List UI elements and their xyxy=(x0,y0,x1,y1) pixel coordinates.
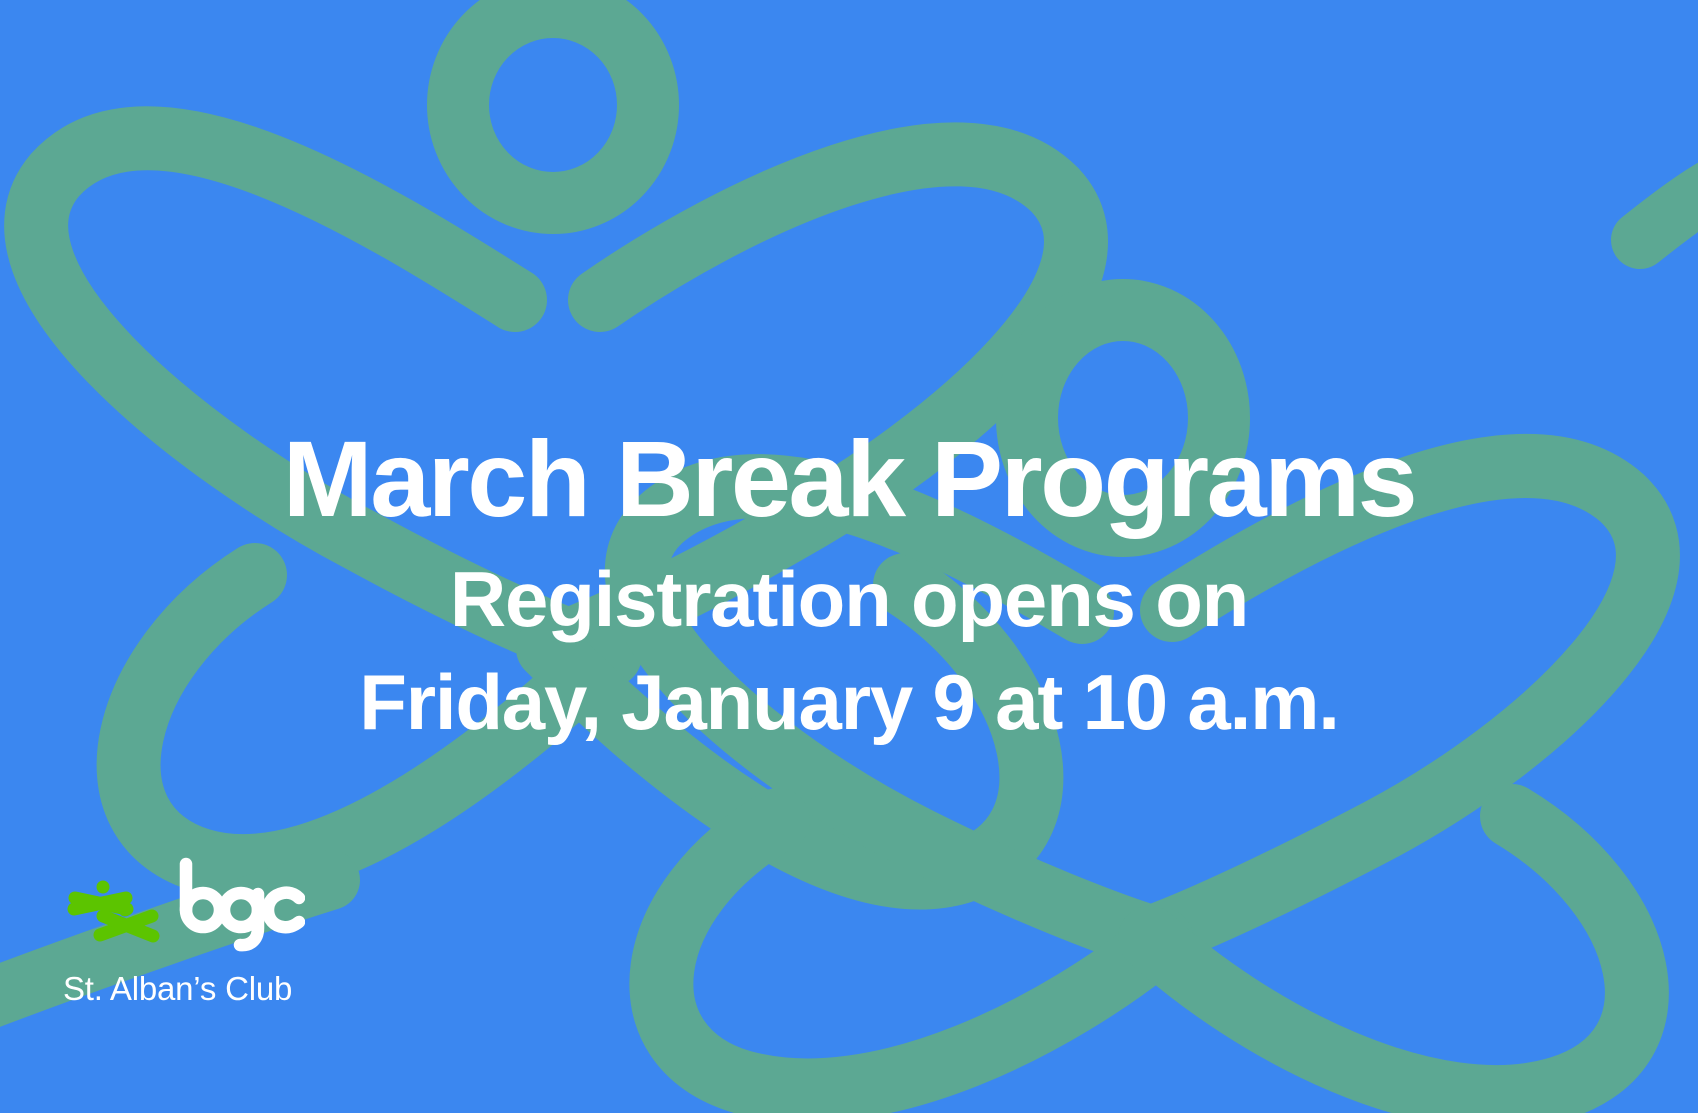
subtitle: Registration opens on Friday, January 9 … xyxy=(0,548,1698,754)
bgc-wordmark-icon xyxy=(177,856,305,952)
page-title: March Break Programs xyxy=(0,424,1698,534)
bgc-people-mark-icon xyxy=(63,876,163,948)
logo-row xyxy=(63,852,403,952)
poster-content: March Break Programs Registration opens … xyxy=(0,0,1698,1113)
bgc-logo: St. Alban’s Club xyxy=(63,852,403,1008)
club-name-label: St. Alban’s Club xyxy=(63,970,403,1008)
subtitle-line-1: Registration opens on xyxy=(0,548,1698,651)
subtitle-line-2: Friday, January 9 at 10 a.m. xyxy=(0,651,1698,754)
promo-poster: March Break Programs Registration opens … xyxy=(0,0,1698,1113)
